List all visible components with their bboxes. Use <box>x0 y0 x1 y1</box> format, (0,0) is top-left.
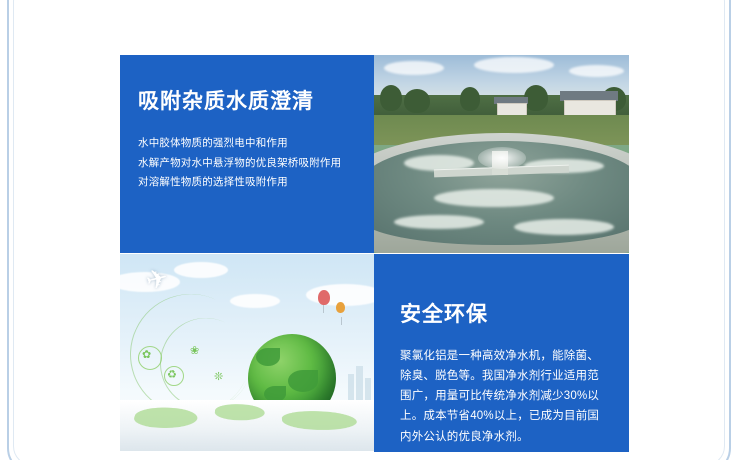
cloud-shape <box>174 262 228 278</box>
panel-headline-adsorption: 吸附杂质水质澄清 <box>138 89 358 114</box>
clarifier-spray <box>478 147 526 169</box>
panel-body-safety: 聚氯化铝是一种高效净水机，能除菌、除臭、脱色等。我国净水剂行业适用范围广，用量可… <box>400 346 607 447</box>
map-landmass <box>281 411 359 430</box>
content-grid: 吸附杂质水质澄清 水中胶体物质的强烈电中和作用 水解产物对水中悬浮物的优良架桥吸… <box>120 55 629 452</box>
map-sheet-shape <box>120 400 374 451</box>
water-foam <box>434 189 554 207</box>
tree-shape <box>460 87 480 111</box>
hot-air-balloon-icon <box>318 290 330 305</box>
city-building-shape <box>365 378 371 402</box>
leaf-icon <box>288 370 318 392</box>
panel-adsorption-clarification: 吸附杂质水质澄清 水中胶体物质的强烈电中和作用 水解产物对水中悬浮物的优良架桥吸… <box>120 55 374 253</box>
water-foam <box>514 219 614 235</box>
tree-shape <box>404 89 430 113</box>
leaf-icon: ❊ <box>214 372 223 383</box>
panel-bullet-list-adsorption: 水中胶体物质的强烈电中和作用 水解产物对水中悬浮物的优良架桥吸附作用 对溶解性物… <box>138 134 358 192</box>
map-landmass <box>214 404 265 420</box>
page-canvas: 吸附杂质水质澄清 水中胶体物质的强烈电中和作用 水解产物对水中悬浮物的优良架桥吸… <box>0 0 750 460</box>
tree-shape <box>380 85 402 111</box>
bullet-item-1: 水中胶体物质的强烈电中和作用 <box>138 134 358 153</box>
photo-wastewater-clarifier <box>374 55 629 253</box>
bullet-item-3: 对溶解性物质的选择性吸附作用 <box>138 173 358 192</box>
recycle-icon: ♻ <box>167 370 177 381</box>
leaf-icon <box>256 348 280 366</box>
city-building-shape <box>356 366 363 402</box>
leaf-icon: ✿ <box>142 350 151 361</box>
panel-safety-environment: 安全环保 聚氯化铝是一种高效净水机，能除菌、除臭、脱色等。我国净水剂行业适用范围… <box>374 254 629 452</box>
hot-air-balloon-icon <box>336 302 345 313</box>
cloud-shape <box>230 294 280 308</box>
panel-headline-safety: 安全环保 <box>400 298 607 328</box>
cloud-shape <box>569 65 624 77</box>
cloud-shape <box>474 57 554 73</box>
photo-eco-globe: ✈ ✈ ✿ ♻ ❀ ❊ <box>120 254 374 452</box>
map-landmass <box>131 408 199 428</box>
bullet-item-2: 水解产物对水中悬浮物的优良架桥吸附作用 <box>138 154 358 173</box>
city-building-shape <box>348 374 354 402</box>
water-foam <box>394 215 484 229</box>
cloud-shape <box>384 61 444 75</box>
leaf-icon: ❀ <box>190 346 199 357</box>
